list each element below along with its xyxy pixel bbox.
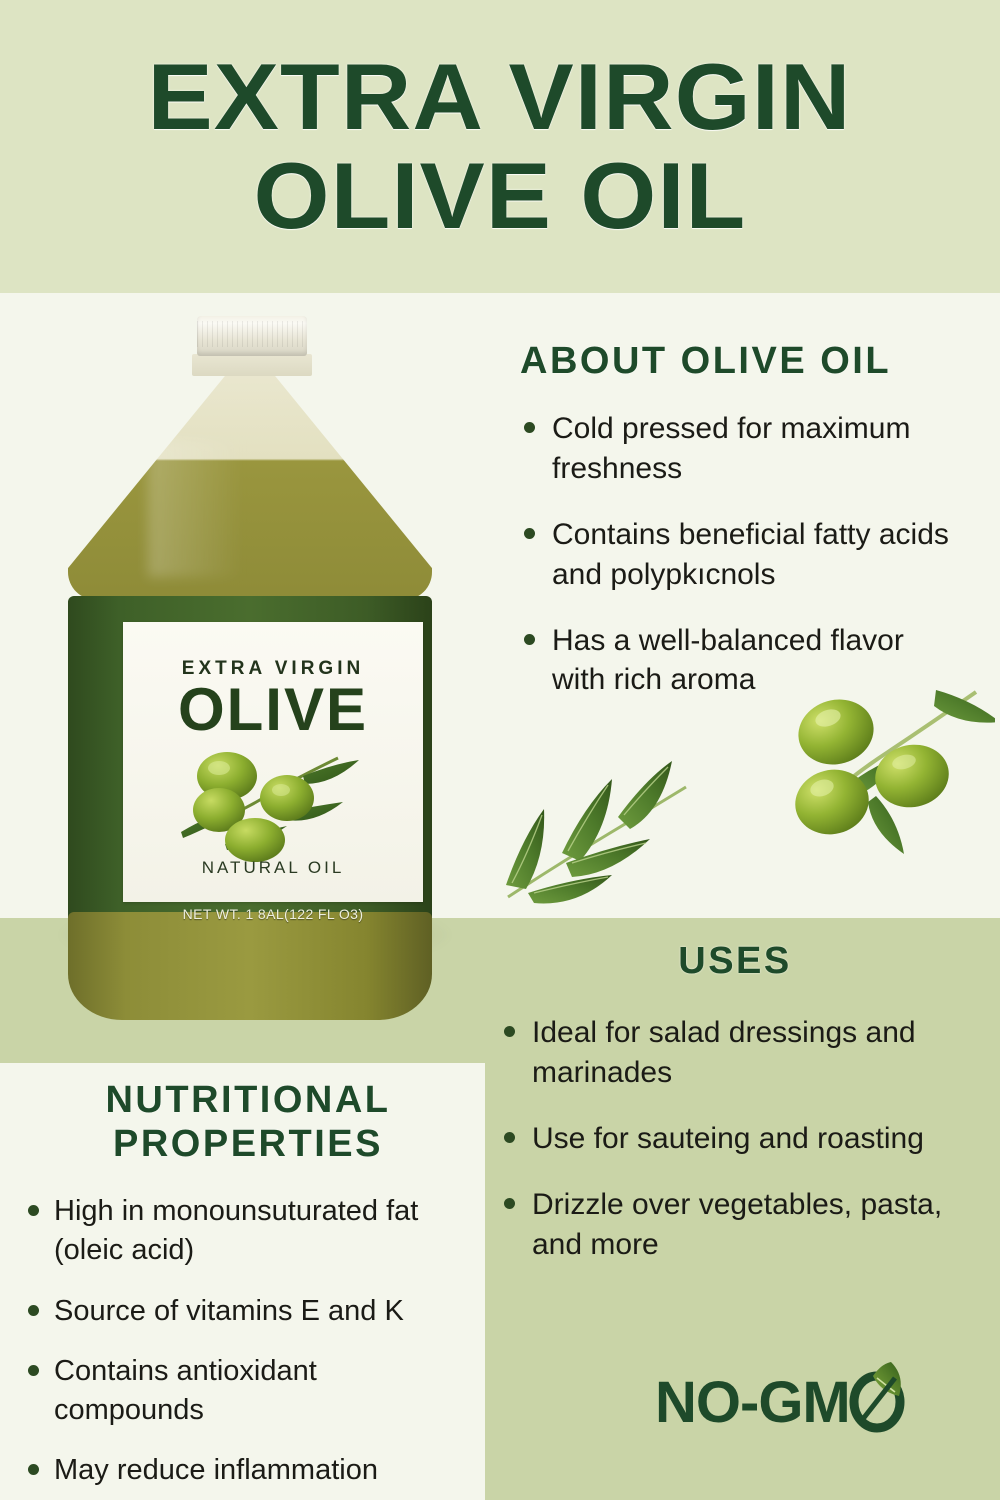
uses-bullet-list: Ideal for salad dressings and marinades …	[500, 1013, 970, 1264]
bottle-base	[68, 912, 432, 1020]
olive-cluster-icon	[163, 740, 383, 865]
bullet-dot-icon	[524, 528, 535, 539]
bullet-dot-icon	[28, 1365, 39, 1376]
bottle-label: EXTRA VIRGIN OLIVE	[123, 622, 423, 902]
bottle-label-bottom-text: NATURAL OIL	[123, 858, 423, 878]
bullet-dot-icon	[28, 1205, 39, 1216]
about-bullet-text: Has a well-balanced flavor with rich aro…	[552, 624, 904, 697]
nutrition-bullet-list: High in monounsuturated fat (oleic acid)…	[24, 1192, 472, 1489]
nutrition-bullet-text: Contains antioxidant compounds	[54, 1355, 317, 1426]
list-item: Contains beneficial fatty acids and poly…	[520, 515, 960, 595]
bottle-neck	[192, 354, 312, 376]
list-item: Source of vitamins E and K	[24, 1292, 472, 1331]
list-item: May reduce inflammation	[24, 1451, 472, 1490]
about-section: ABOUT OLIVE OIL Cold pressed for maximum…	[520, 340, 960, 700]
net-weight-text: NET WT. 1 8AL(122 FL O3)	[123, 906, 423, 922]
uses-bullet-text: Drizzle over vegetables, pasta, and more	[532, 1188, 942, 1261]
list-item: Use for sauteing and roasting	[500, 1119, 970, 1159]
nutrition-bullet-text: High in monounsuturated fat (oleic acid)	[54, 1195, 418, 1266]
nutrition-section: NUTRITIONAL PROPERTIES High in monounsut…	[24, 1079, 472, 1490]
bullet-dot-icon	[504, 1132, 515, 1143]
list-item: Cold pressed for maximum freshness	[520, 409, 960, 489]
nutrition-panel: NUTRITIONAL PROPERTIES High in monounsut…	[0, 1063, 485, 1500]
uses-section: USES Ideal for salad dressings and marin…	[500, 940, 970, 1264]
uses-bullet-text: Ideal for salad dressings and marinades	[532, 1016, 916, 1089]
nutrition-bullet-text: Source of vitamins E and K	[54, 1295, 404, 1327]
list-item: Drizzle over vegetables, pasta, and more	[500, 1185, 970, 1265]
bullet-dot-icon	[504, 1198, 515, 1209]
list-item: Has a well-balanced flavor with rich aro…	[520, 621, 960, 701]
poster-root: EXTRA VIRGIN OLIVE OIL NUTRITIONAL PROPE…	[0, 0, 1000, 1500]
uses-heading: USES	[500, 940, 970, 983]
product-bottle-image: EXTRA VIRGIN OLIVE	[40, 300, 460, 1020]
nutrition-heading: NUTRITIONAL PROPERTIES	[24, 1079, 472, 1166]
bullet-dot-icon	[504, 1026, 515, 1037]
list-item: High in monounsuturated fat (oleic acid)	[24, 1192, 472, 1269]
bullet-dot-icon	[524, 422, 535, 433]
nutrition-heading-line-2: PROPERTIES	[113, 1123, 383, 1165]
uses-bullet-text: Use for sauteing and roasting	[532, 1122, 924, 1155]
page-title-line-2: OLIVE OIL	[254, 150, 747, 242]
poster-header: EXTRA VIRGIN OLIVE OIL	[0, 0, 1000, 293]
nutrition-bullet-text: May reduce inflammation	[54, 1454, 378, 1486]
about-bullet-list: Cold pressed for maximum freshness Conta…	[520, 409, 960, 700]
bottle-label-main-text: OLIVE	[123, 680, 423, 740]
about-bullet-text: Contains beneficial fatty acids and poly…	[552, 518, 949, 591]
olive-sprig-icon	[500, 735, 730, 905]
olive-branch-icon	[780, 690, 995, 905]
list-item: Contains antioxidant compounds	[24, 1352, 472, 1429]
bullet-dot-icon	[28, 1464, 39, 1475]
bottle-cap	[197, 316, 307, 356]
bullet-dot-icon	[28, 1305, 39, 1316]
bottle-shoulder	[68, 372, 432, 600]
about-bullet-text: Cold pressed for maximum freshness	[552, 412, 910, 485]
nutrition-heading-line-1: NUTRITIONAL	[105, 1079, 390, 1121]
no-gmo-badge: NO-GM	[655, 1358, 915, 1444]
bullet-dot-icon	[524, 634, 535, 645]
no-gmo-label: NO-GM	[655, 1370, 850, 1435]
list-item: Ideal for salad dressings and marinades	[500, 1013, 970, 1093]
about-heading: ABOUT OLIVE OIL	[520, 340, 891, 382]
page-title-line-1: EXTRA VIRGIN	[148, 51, 852, 143]
